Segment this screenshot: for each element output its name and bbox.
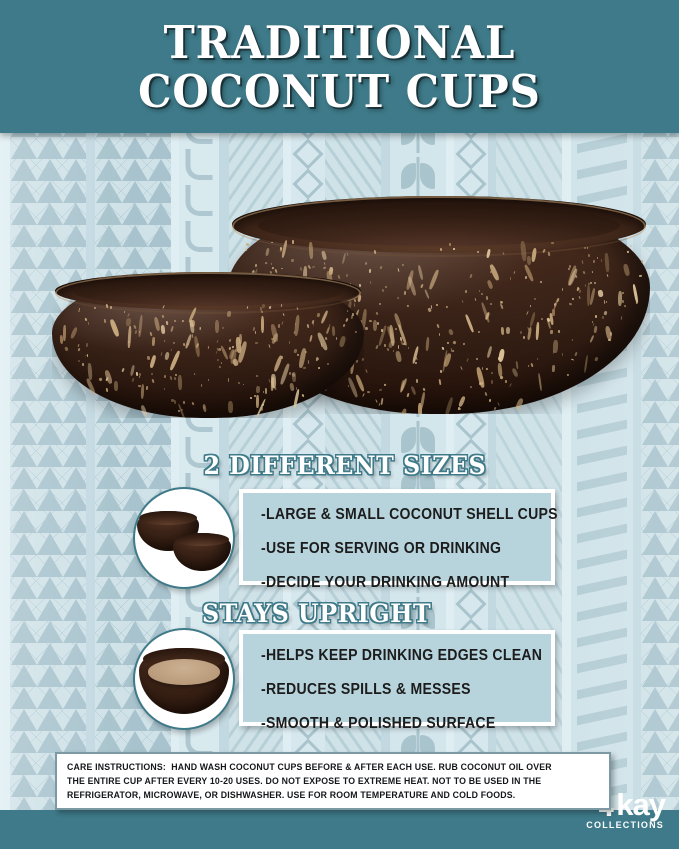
small-coconut-bowl [52,272,364,418]
brand-word: kay [616,787,665,822]
pattern-band-plain [0,133,10,849]
feature-bullet-list: -LARGE & SMALL COCONUT SHELL CUPS -USE F… [243,493,551,605]
infographic-sheet: TRADITIONAL COCONUT CUPS 2 DIFFERENT SIZ… [0,0,679,849]
feature-title-upright: STAYS UPRIGHT [202,600,431,627]
drink-liquid [148,659,221,684]
care-instructions-label: CARE INSTRUCTIONS: [67,762,166,773]
feature-title-sizes: 2 DIFFERENT SIZES [203,452,486,479]
feature-panel-upright: -HELPS KEEP DRINKING EDGES CLEAN -REDUCE… [239,630,555,726]
mini-bowl-front [173,533,231,571]
pattern-band-divider [86,133,95,849]
feature-bullet-list: -HELPS KEEP DRINKING EDGES CLEAN -REDUCE… [243,634,551,746]
page-title: TRADITIONAL COCONUT CUPS [24,18,655,116]
list-item: -DECIDE YOUR DRINKING AMOUNT [261,575,516,591]
header-band: TRADITIONAL COCONUT CUPS [0,0,679,133]
care-instructions-box: CARE INSTRUCTIONS: HAND WASH COCONUT CUP… [55,752,611,810]
footer-band: 4kay COLLECTIONS [0,810,679,849]
two-stacked-bowls-photo [135,489,233,587]
brand-subtitle: COLLECTIONS [586,820,664,830]
pattern-band-triangles [10,133,86,849]
feature-panel-sizes: -LARGE & SMALL COCONUT SHELL CUPS -USE F… [239,489,555,585]
feature-inset-sizes [133,487,235,589]
care-instructions-text: CARE INSTRUCTIONS: HAND WASH COCONUT CUP… [67,761,556,803]
feature-inset-upright [133,628,235,730]
list-item: -SMOOTH & POLISHED SURFACE [261,716,516,732]
bowl-rim-highlight [55,272,361,314]
list-item: -HELPS KEEP DRINKING EDGES CLEAN [261,648,516,664]
list-item: -USE FOR SERVING OR DRINKING [261,541,516,557]
bowl-with-drink-photo [135,630,233,728]
list-item: -LARGE & SMALL COCONUT SHELL CUPS [261,507,516,523]
list-item: -REDUCES SPILLS & MESSES [261,682,516,698]
